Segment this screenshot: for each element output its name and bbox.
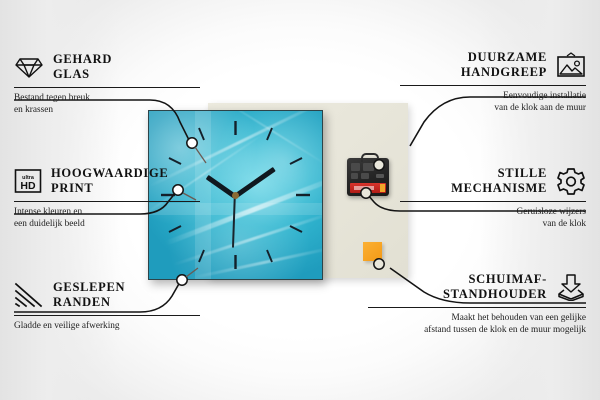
movement-detail: [361, 173, 369, 179]
divider: [400, 85, 586, 86]
feature-duurzame-handgreep[interactable]: DUURZAME HANDGREEP Eenvoudige installati…: [400, 48, 586, 115]
movement-detail: [376, 174, 384, 178]
feature-stille-mechanisme[interactable]: STILLE MECHANISME Geruisloze wijzers van…: [400, 164, 586, 231]
divider: [14, 87, 200, 88]
feature-header: GEHARD GLAS: [14, 50, 200, 84]
beveled-edges-icon: [14, 282, 44, 308]
feature-title: GEHARD GLAS: [53, 52, 112, 83]
battery: [350, 183, 386, 193]
feature-schuimafstandhouder[interactable]: SCHUIMAF- STANDHOUDER Maakt het behouden…: [368, 270, 586, 337]
battery-label: [354, 186, 374, 190]
divider: [14, 201, 200, 202]
movement-detail: [351, 163, 360, 171]
gear-icon: [556, 167, 586, 195]
clock-center-cap: [232, 192, 239, 199]
feature-subtitle: Intense kleuren en een duidelijk beeld: [14, 206, 200, 231]
feature-title: DUURZAME HANDGREEP: [461, 50, 547, 81]
feature-title: GESLEPEN RANDEN: [53, 280, 125, 311]
feature-hoogwaardige-print[interactable]: ultra HD HOOGWAARDIGE PRINT Intense kleu…: [14, 164, 200, 231]
feature-title: STILLE MECHANISME: [451, 166, 547, 197]
ultra-hd-icon: ultra HD: [14, 168, 42, 194]
foam-spacer-block: [363, 242, 382, 261]
feature-geslepen-randen[interactable]: GESLEPEN RANDEN Gladde en veilige afwerk…: [14, 278, 200, 332]
feature-subtitle: Eenvoudige installatie van de klok aan d…: [400, 90, 586, 115]
picture-frame-icon: [556, 52, 586, 78]
feature-title: HOOGWAARDIGE PRINT: [51, 166, 168, 197]
feature-header: ultra HD HOOGWAARDIGE PRINT: [14, 164, 200, 198]
divider: [368, 307, 586, 308]
feature-header: DUURZAME HANDGREEP: [400, 48, 586, 82]
battery-terminal: [380, 184, 385, 192]
divider: [400, 201, 586, 202]
feature-header: GESLEPEN RANDEN: [14, 278, 200, 312]
foam-spacer-icon: [556, 273, 586, 301]
feature-subtitle: Maakt het behouden van een gelijke afsta…: [368, 312, 586, 337]
feature-gehard-glas[interactable]: GEHARD GLAS Bestand tegen breuk en krass…: [14, 50, 200, 117]
infographic-canvas: GEHARD GLAS Bestand tegen breuk en krass…: [0, 0, 600, 400]
movement-detail: [351, 173, 358, 179]
feature-header: SCHUIMAF- STANDHOUDER: [368, 270, 586, 304]
clock-movement-box: [347, 158, 389, 196]
svg-text:HD: HD: [20, 180, 36, 192]
feature-subtitle: Gladde en veilige afwerking: [14, 320, 200, 332]
diamond-icon: [14, 55, 44, 79]
feature-title: SCHUIMAF- STANDHOUDER: [443, 272, 547, 303]
divider: [14, 315, 200, 316]
movement-detail: [363, 163, 374, 171]
feature-header: STILLE MECHANISME: [400, 164, 586, 198]
feature-subtitle: Geruisloze wijzers van de klok: [400, 206, 586, 231]
movement-hanger-icon: [361, 153, 379, 162]
feature-subtitle: Bestand tegen breuk en krassen: [14, 92, 200, 117]
